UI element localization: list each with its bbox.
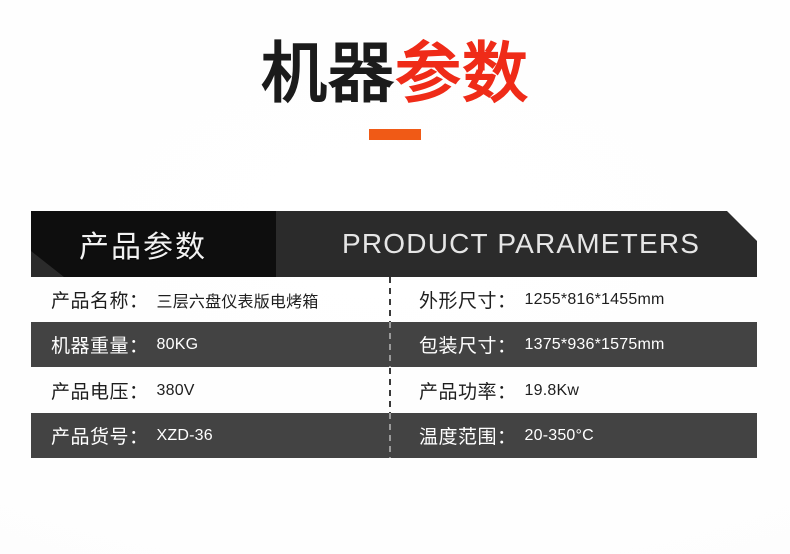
panel-header-left-label: 产品参数	[79, 211, 207, 277]
table-cell-right: 温度范围： 20-350°C	[389, 413, 757, 458]
param-value: 80KG	[157, 336, 199, 354]
param-label: 机器重量：	[51, 331, 149, 358]
table-cell-left: 产品名称： 三层六盘仪表版电烤箱	[31, 277, 389, 322]
table-cell-left: 机器重量： 80KG	[31, 322, 389, 367]
param-value: 1375*936*1575mm	[525, 336, 665, 354]
param-label: 外形尺寸：	[419, 286, 517, 313]
table-cell-right: 外形尺寸： 1255*816*1455mm	[389, 277, 757, 322]
param-label: 温度范围：	[419, 422, 517, 449]
table-cell-right: 产品功率： 19.8Kw	[389, 368, 757, 413]
param-label: 产品货号：	[51, 422, 149, 449]
panel-header: 产品参数 PRODUCT PARAMETERS	[31, 211, 757, 277]
page-title-accent-part: 参数	[395, 36, 529, 110]
param-label: 产品电压：	[51, 377, 149, 404]
panel-header-right-label: PRODUCT PARAMETERS	[342, 211, 700, 277]
param-value: 1255*816*1455mm	[525, 291, 665, 309]
param-label: 产品名称：	[51, 286, 149, 313]
table-row: 产品货号： XZD-36 温度范围： 20-350°C	[31, 413, 757, 458]
param-label: 产品功率：	[419, 377, 517, 404]
param-value: 20-350°C	[525, 427, 594, 445]
table-cell-right: 包装尺寸： 1375*936*1575mm	[389, 322, 757, 367]
param-value: 380V	[157, 382, 195, 400]
param-value: XZD-36	[157, 427, 213, 445]
page-title-text: 机器参数	[0, 38, 790, 109]
page-title: 机器参数	[0, 38, 790, 140]
parameters-table: 产品名称： 三层六盘仪表版电烤箱 外形尺寸： 1255*816*1455mm 机…	[31, 277, 757, 458]
param-label: 包装尺寸：	[419, 331, 517, 358]
table-row: 机器重量： 80KG 包装尺寸： 1375*936*1575mm	[31, 322, 757, 367]
title-underline-rule	[369, 129, 421, 140]
table-cell-left: 产品电压： 380V	[31, 368, 389, 413]
product-parameters-panel: 产品参数 PRODUCT PARAMETERS 产品名称： 三层六盘仪表版电烤箱…	[31, 211, 757, 460]
table-cell-left: 产品货号： XZD-36	[31, 413, 389, 458]
page-title-dark-part: 机器	[261, 36, 395, 110]
table-row: 产品名称： 三层六盘仪表版电烤箱 外形尺寸： 1255*816*1455mm	[31, 277, 757, 322]
param-value: 三层六盘仪表版电烤箱	[157, 288, 319, 312]
param-value: 19.8Kw	[525, 382, 580, 400]
table-row: 产品电压： 380V 产品功率： 19.8Kw	[31, 368, 757, 413]
